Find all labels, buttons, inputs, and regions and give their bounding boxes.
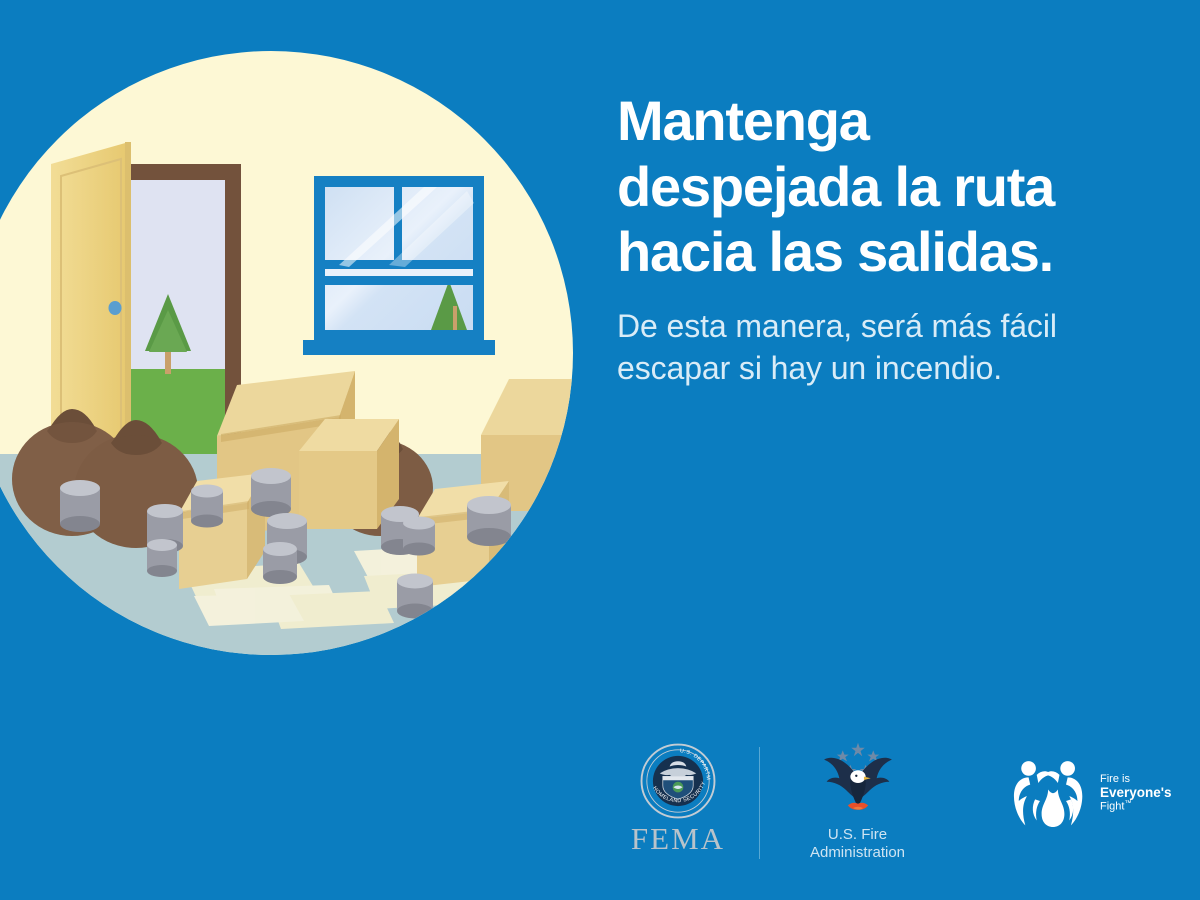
usfa-line-1: U.S. Fire — [790, 826, 925, 844]
cluttered-room-illustration — [0, 51, 573, 655]
window-tree-trunk — [453, 306, 457, 330]
fief-line-1: Fire is — [1100, 773, 1172, 785]
fief-people-flame-icon — [1012, 757, 1094, 827]
illustration-clip-group — [0, 51, 573, 655]
window-sill — [303, 340, 495, 355]
window-sash-gap — [325, 268, 473, 276]
window-group — [303, 176, 495, 355]
window-meeting-rail-bottom — [325, 276, 473, 285]
door-leaf — [51, 142, 129, 451]
paint-can — [397, 574, 433, 619]
usfa-wordmark: U.S. Fire Administration — [790, 826, 925, 863]
paint-can — [263, 542, 297, 584]
fire-is-everyones-fight-logo: Fire is Everyone's Fight™ — [1012, 757, 1187, 827]
fief-line-3-text: Fight — [1100, 801, 1124, 813]
paint-can — [403, 517, 435, 556]
fief-wordmark: Fire is Everyone's Fight™ — [1100, 771, 1172, 813]
headline-line-2: despejada la ruta — [617, 154, 1157, 220]
illustration-circle — [0, 51, 573, 655]
page-subtitle: De esta manera, será más fácil escapar s… — [617, 305, 1157, 391]
fema-wordmark: FEMA — [618, 823, 738, 854]
text-block: Mantenga despejada la ruta hacia las sal… — [617, 88, 1157, 390]
fema-logo: U.S. DEPARTMENT OF HOMELAND SECURITY FEM… — [618, 743, 738, 854]
subhead-line-2: escapar si hay un incendio. — [617, 347, 1157, 390]
paint-can — [147, 539, 177, 577]
headline-line-1: Mantenga — [617, 88, 1157, 154]
footer-logos: U.S. DEPARTMENT OF HOMELAND SECURITY FEM… — [600, 735, 1180, 870]
fief-line-2: Everyone's — [1100, 785, 1172, 800]
dhs-seal-icon: U.S. DEPARTMENT OF HOMELAND SECURITY — [640, 743, 716, 819]
subhead-line-1: De esta manera, será más fácil — [617, 305, 1157, 348]
poster-canvas: Mantenga despejada la ruta hacia las sal… — [0, 0, 1200, 900]
usfa-eagle-icon — [815, 741, 901, 819]
door-edge — [125, 142, 131, 451]
headline-line-3: hacia las salidas. — [617, 219, 1157, 285]
footer-divider — [759, 747, 760, 859]
paint-can — [60, 480, 100, 532]
usfa-line-2: Administration — [790, 844, 925, 862]
paint-can — [251, 468, 291, 517]
open-door-group — [51, 142, 241, 454]
paint-can — [467, 496, 511, 546]
fief-trademark: ™ — [1124, 800, 1131, 807]
usfa-logo: U.S. Fire Administration — [790, 741, 925, 863]
page-title: Mantenga despejada la ruta hacia las sal… — [617, 88, 1157, 285]
paint-can — [191, 485, 223, 528]
door-knob — [109, 301, 122, 315]
fief-line-3: Fight™ — [1100, 800, 1172, 813]
